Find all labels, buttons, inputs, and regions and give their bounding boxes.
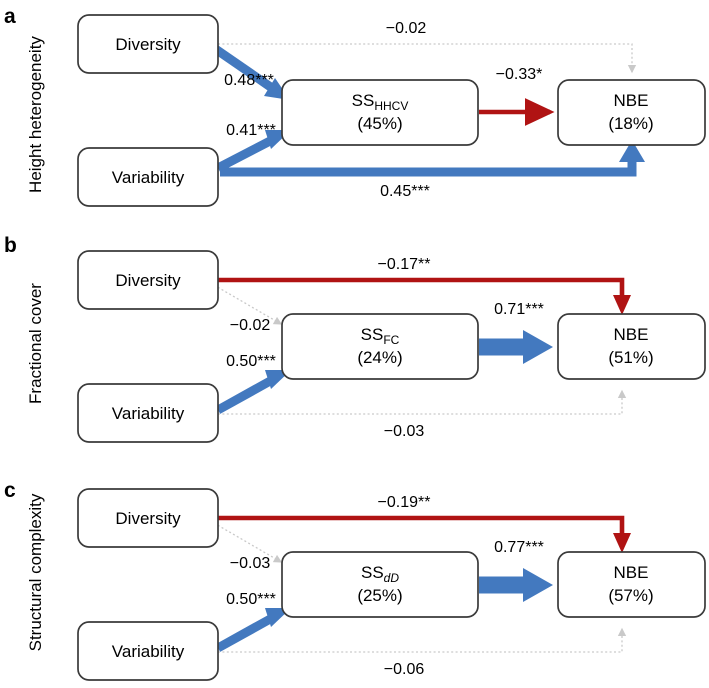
node-c-outcome[interactable] bbox=[558, 552, 705, 617]
node-a-outcome-r2: (18%) bbox=[608, 114, 653, 133]
node-a-outcome-label: NBE bbox=[614, 91, 649, 110]
coef-b-variability-to-outcome: −0.03 bbox=[384, 423, 425, 440]
node-c-outcome-r2: (57%) bbox=[608, 586, 653, 605]
path-analysis-figure: a Height heterogeneity bbox=[0, 0, 709, 688]
node-b-mediator-r2: (24%) bbox=[357, 348, 402, 367]
path-b-diversity-to-outcome bbox=[218, 280, 631, 315]
coef-a-mediator-to-outcome: −0.33* bbox=[496, 66, 543, 83]
panel-a: a Height heterogeneity bbox=[0, 0, 709, 229]
node-a-diversity-label: Diversity bbox=[115, 35, 181, 54]
coef-c-variability-to-mediator: 0.50*** bbox=[226, 591, 276, 608]
node-b-mediator[interactable] bbox=[282, 314, 478, 379]
coef-c-diversity-to-mediator: −0.03 bbox=[230, 555, 271, 572]
path-b-variability-to-mediator bbox=[218, 370, 291, 410]
path-b-variability-to-outcome bbox=[218, 391, 622, 414]
node-b-outcome[interactable] bbox=[558, 314, 705, 379]
path-b-mediator-to-outcome bbox=[479, 330, 553, 364]
panel-b-diagram: Diversity Variability SSFC (24%) NBE (51… bbox=[0, 229, 709, 458]
node-c-mediator[interactable] bbox=[282, 552, 478, 617]
path-c-mediator-to-outcome bbox=[479, 568, 553, 602]
coef-c-mediator-to-outcome: 0.77*** bbox=[494, 539, 544, 556]
node-b-variability-label: Variability bbox=[112, 404, 185, 423]
coef-b-diversity-to-mediator: −0.02 bbox=[230, 317, 271, 334]
node-a-outcome[interactable] bbox=[558, 80, 705, 145]
node-c-outcome-label: NBE bbox=[614, 563, 649, 582]
panel-b: b Fractional cover bbox=[0, 229, 709, 458]
path-a-diversity-to-outcome bbox=[218, 44, 632, 72]
node-b-outcome-label: NBE bbox=[614, 325, 649, 344]
panel-c-diagram: Diversity Variability SSdD (25%) NBE (57… bbox=[0, 458, 709, 688]
coef-c-diversity-to-outcome: −0.19** bbox=[378, 494, 431, 511]
node-a-variability-label: Variability bbox=[112, 168, 185, 187]
path-c-variability-to-outcome bbox=[218, 629, 622, 652]
node-c-mediator-r2: (25%) bbox=[357, 586, 402, 605]
panel-c: c Structural complexity bbox=[0, 458, 709, 687]
panel-a-diagram: Diversity Variability SSHHCV (45%) NBE (… bbox=[0, 0, 709, 229]
path-c-diversity-to-outcome bbox=[218, 518, 631, 553]
coef-a-diversity-to-mediator: 0.48*** bbox=[224, 72, 274, 89]
node-b-diversity-label: Diversity bbox=[115, 271, 181, 290]
coef-a-variability-to-outcome: 0.45*** bbox=[380, 183, 430, 200]
node-c-variability-label: Variability bbox=[112, 642, 185, 661]
coef-b-diversity-to-outcome: −0.17** bbox=[378, 256, 431, 273]
node-c-diversity-label: Diversity bbox=[115, 509, 181, 528]
coef-b-mediator-to-outcome: 0.71*** bbox=[494, 301, 544, 318]
node-b-outcome-r2: (51%) bbox=[608, 348, 653, 367]
path-c-variability-to-mediator bbox=[218, 608, 291, 648]
coef-a-variability-to-mediator: 0.41*** bbox=[226, 122, 276, 139]
node-a-mediator-r2: (45%) bbox=[357, 114, 402, 133]
coef-a-diversity-to-outcome: −0.02 bbox=[386, 20, 427, 37]
coef-b-variability-to-mediator: 0.50*** bbox=[226, 353, 276, 370]
coef-c-variability-to-outcome: −0.06 bbox=[384, 661, 425, 678]
